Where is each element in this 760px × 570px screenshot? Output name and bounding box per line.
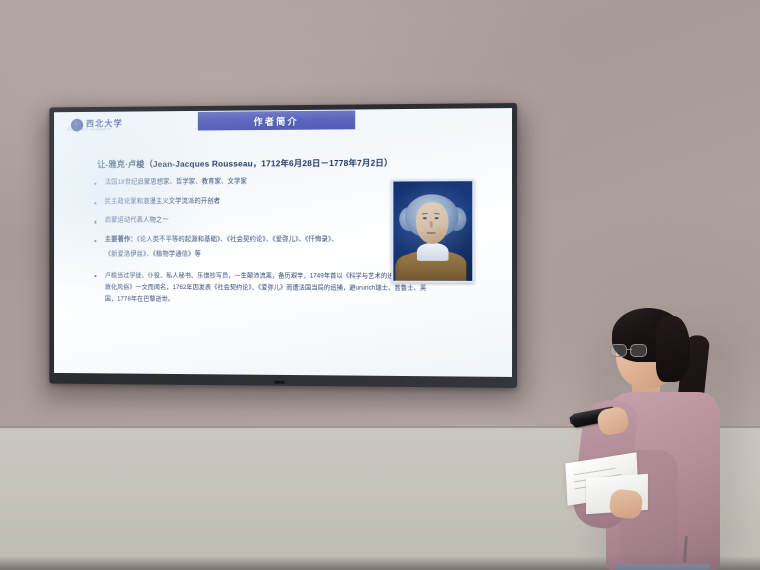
slide-bullet-list: 法国18世纪启蒙思想家、哲学家、教育家、文学家 民主政论家和浪漫主义文学流派的开… bbox=[92, 177, 380, 270]
tv-bezel: 西北大学 NORTHWEST UNIVERSITY 作者简介 让-雅克·卢梭（J… bbox=[49, 103, 517, 388]
portrait-vignette bbox=[393, 181, 472, 281]
list-item: 启蒙运动代表人物之一 bbox=[92, 216, 380, 227]
slide-heading: 让-雅克·卢梭（Jean-Jacques Rousseau，1712年6月28日… bbox=[97, 157, 392, 170]
slide-body: 让-雅克·卢梭（Jean-Jacques Rousseau，1712年6月28日… bbox=[54, 134, 512, 377]
presenter-hair-side bbox=[656, 316, 690, 382]
list-item: 法国18世纪启蒙思想家、哲学家、教育家、文学家 bbox=[92, 177, 380, 188]
glasses-lens-left bbox=[610, 344, 627, 357]
tv-ir-sensor-icon bbox=[274, 381, 285, 384]
presenter-person bbox=[560, 300, 760, 570]
glasses-lens-right bbox=[630, 344, 647, 357]
glasses-icon bbox=[610, 344, 650, 358]
bullet-text: 启蒙运动代表人物之一 bbox=[105, 217, 169, 224]
slide-paragraph: 卢梭当过学徒、仆役、私人秘书、乐谱抄写员，一生颠沛流离，备历艰辛，1749年首以… bbox=[92, 270, 438, 306]
bullet-text: 《论人类不平等的起源和基础》、《社会契约论》、《爱弥儿》、《忏悔录》、 bbox=[137, 236, 338, 243]
bullet-text: 民主政论家和浪漫主义文学流派的开创者 bbox=[105, 198, 220, 205]
university-name-en: NORTHWEST UNIVERSITY bbox=[67, 128, 111, 131]
slide-title: 作者简介 bbox=[254, 113, 299, 127]
bullet-text: 法国18世纪启蒙思想家、哲学家、教育家、文学家 bbox=[105, 178, 247, 185]
classroom-scene: 西北大学 NORTHWEST UNIVERSITY 作者简介 让-雅克·卢梭（J… bbox=[0, 0, 760, 570]
presenter-jeans bbox=[616, 564, 710, 570]
paper-line bbox=[574, 468, 616, 476]
bullet-continuation: 《新爱洛伊丝》、《植物学通信》等 bbox=[105, 250, 380, 260]
slide-header: 西北大学 NORTHWEST UNIVERSITY 作者简介 bbox=[54, 108, 512, 137]
list-item: 主要著作：《论人类不平等的起源和基础》、《社会契约论》、《爱弥儿》、《忏悔录》、… bbox=[92, 235, 380, 260]
bullet-lead: 主要著作： bbox=[105, 236, 137, 243]
list-item: 民主政论家和浪漫主义文学流派的开创者 bbox=[92, 196, 380, 207]
wall-mounted-display[interactable]: 西北大学 NORTHWEST UNIVERSITY 作者简介 让-雅克·卢梭（J… bbox=[49, 103, 517, 388]
tv-screen[interactable]: 西北大学 NORTHWEST UNIVERSITY 作者简介 让-雅克·卢梭（J… bbox=[54, 108, 512, 377]
presentation-slide: 西北大学 NORTHWEST UNIVERSITY 作者简介 让-雅克·卢梭（J… bbox=[54, 108, 512, 377]
presenter-hand-lower bbox=[609, 488, 644, 519]
slide-title-banner: 作者简介 bbox=[198, 110, 355, 130]
rousseau-portrait bbox=[391, 179, 474, 283]
